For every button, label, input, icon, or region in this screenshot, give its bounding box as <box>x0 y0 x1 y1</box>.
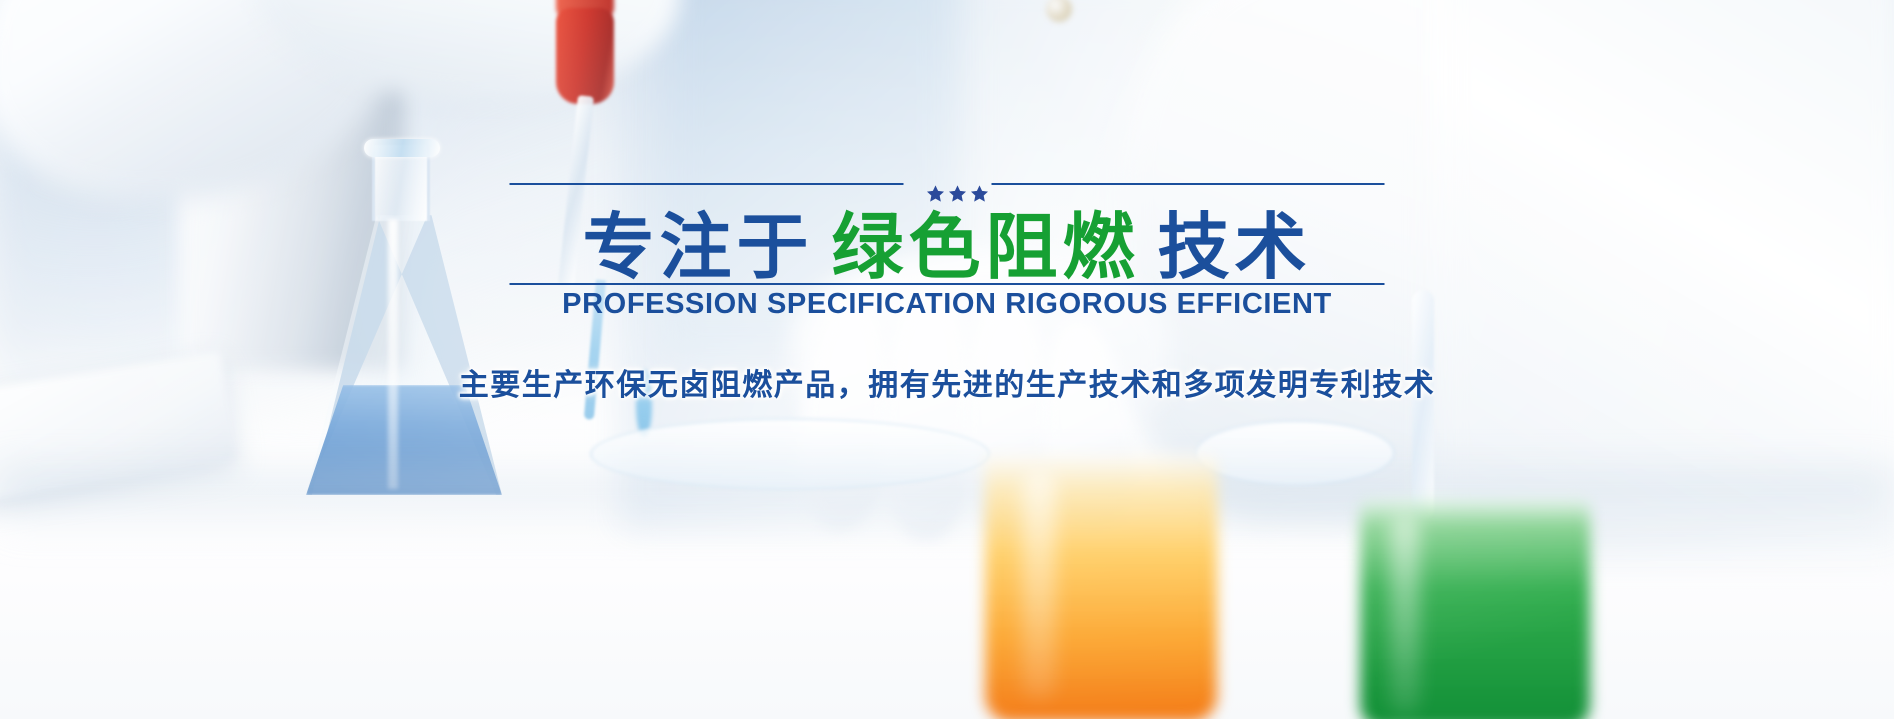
page-title: 专注于绿色阻燃技术 <box>582 205 1311 290</box>
decorative-rule-bottom <box>510 283 1385 285</box>
subtitle-chinese: 主要生产环保无卤阻燃产品，拥有先进的生产技术和多项发明专利技术 <box>459 360 1436 404</box>
banner-content: 专注于绿色阻燃技术 PROFESSION SPECIFICATION RIGOR… <box>0 0 1894 719</box>
subtitle-english: PROFESSION SPECIFICATION RIGOROUS EFFICI… <box>562 288 1332 321</box>
headline-part-green-flame-retardant: 绿色阻燃 <box>831 205 1139 289</box>
rule-right-segment <box>991 183 1385 185</box>
rule-left-segment <box>510 183 904 185</box>
hero-banner: 专注于绿色阻燃技术 PROFESSION SPECIFICATION RIGOR… <box>0 0 1894 719</box>
headline-part-technology: 技术 <box>1158 205 1312 289</box>
decorative-rule-top <box>510 183 1385 185</box>
headline-part-focus: 专注于 <box>582 205 813 289</box>
